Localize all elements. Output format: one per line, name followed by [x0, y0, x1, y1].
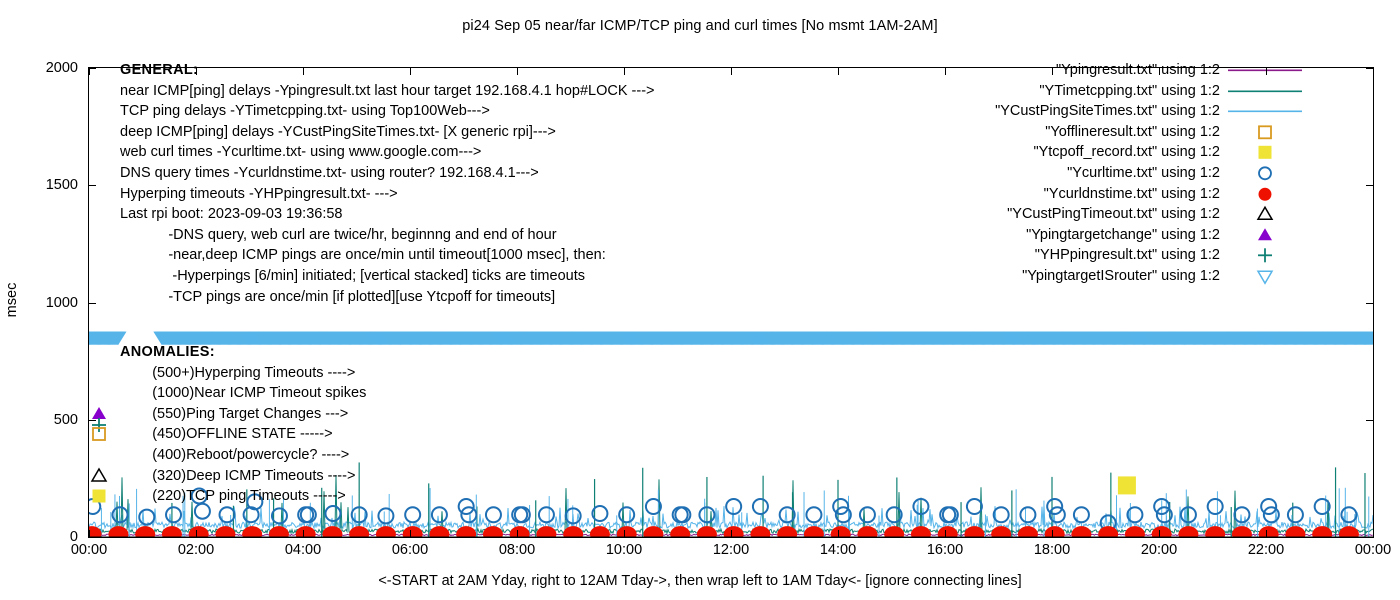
square-open-icon — [84, 424, 114, 444]
x-axis-tick-mark — [1052, 68, 1053, 75]
x-axis-tick-label: 08:00 — [499, 542, 535, 558]
legend-label: "YHPpingresult.txt" using 1:2 — [1035, 247, 1220, 263]
anomaly-row: (220)TCP ping Timeouts -----> — [120, 486, 366, 507]
anomaly-label: (320)Deep ICMP Timeouts ----> — [120, 468, 355, 484]
x-axis-tick-label: 12:00 — [713, 542, 749, 558]
anomaly-row: (320)Deep ICMP Timeouts ----> — [120, 466, 366, 487]
anomaly-label: (220)TCP ping Timeouts -----> — [120, 488, 346, 504]
x-axis-tick-mark — [945, 530, 946, 537]
y-axis-tick-mark — [89, 420, 96, 421]
x-axis-tick-label: 06:00 — [392, 542, 428, 558]
general-line: -Hyperpings [6/min] initiated; [vertical… — [120, 266, 655, 287]
x-axis-tick-mark — [731, 68, 732, 75]
y-axis-tick-mark — [89, 537, 96, 538]
anomaly-label: (400)Reboot/powercycle? ----> — [120, 447, 349, 463]
anomaly-row: (450)OFFLINE STATE -----> — [120, 424, 366, 445]
general-line: DNS query times -Ycurldnstime.txt- using… — [120, 163, 655, 184]
x-axis-tick-mark — [89, 68, 90, 75]
x-axis-tick-mark — [731, 530, 732, 537]
general-line: -TCP pings are once/min [if plotted][use… — [120, 287, 655, 308]
x-axis-tick-mark — [517, 68, 518, 75]
y-axis-tick-label: 500 — [18, 412, 78, 428]
x-axis-tick-mark — [1266, 530, 1267, 537]
y-axis-tick-mark — [89, 303, 96, 304]
x-axis-tick-label: 02:00 — [178, 542, 214, 558]
triangle-up-open-icon — [84, 466, 114, 486]
y-axis-tick-mark — [1366, 537, 1373, 538]
anomaly-label: (550)Ping Target Changes ---> — [120, 406, 348, 422]
anomaly-label: (500+)Hyperping Timeouts ----> — [120, 365, 355, 381]
anomaly-label: (1000)Near ICMP Timeout spikes — [120, 385, 366, 401]
x-axis-tick-mark — [945, 68, 946, 75]
x-axis-tick-label: 14:00 — [820, 542, 856, 558]
circle-open-icon — [1226, 163, 1304, 184]
y-axis-tick-labels: 0500100015002000 — [14, 0, 78, 600]
chart-title: pi24 Sep 05 near/far ICMP/TCP ping and c… — [0, 18, 1400, 34]
x-axis-tick-mark — [1266, 68, 1267, 75]
x-axis-tick-label: 18:00 — [1034, 542, 1070, 558]
line-key-icon — [1226, 101, 1304, 122]
y-axis-tick-label: 1500 — [18, 177, 78, 193]
y-axis-label: msec — [4, 270, 20, 330]
x-axis-tick-mark — [303, 68, 304, 75]
y-axis-tick-label: 2000 — [18, 60, 78, 76]
x-axis-label: <-START at 2AM Yday, right to 12AM Tday-… — [0, 573, 1400, 589]
general-lines: near ICMP[ping] delays -Ypingresult.txt … — [120, 81, 655, 308]
general-line: web curl times -Ycurltime.txt- using www… — [120, 142, 655, 163]
square-filled-icon — [84, 486, 114, 506]
legend-entry: "Yofflineresult.txt" using 1:2 — [995, 122, 1304, 143]
legend-label: "YTimetcpping.txt" using 1:2 — [1039, 83, 1220, 99]
anomaly-label: (450)OFFLINE STATE -----> — [120, 426, 333, 442]
line-key-icon — [1226, 60, 1304, 81]
x-axis-tick-mark — [517, 530, 518, 537]
legend-entry: "Ytcpoff_record.txt" using 1:2 — [995, 142, 1304, 163]
anomalies-header: ANOMALIES: — [120, 342, 366, 363]
y-axis-tick-label: 0 — [18, 529, 78, 545]
legend-label: "YCustPingSiteTimes.txt" using 1:2 — [995, 103, 1220, 119]
y-axis-tick-mark — [1366, 185, 1373, 186]
legend-entry: "Ypingresult.txt" using 1:2 — [995, 60, 1304, 81]
anomalies-annotation-block: ANOMALIES: (500+)Hyperping Timeouts ----… — [120, 342, 366, 507]
general-line: deep ICMP[ping] delays -YCustPingSiteTim… — [120, 122, 655, 143]
x-axis-tick-label: 16:00 — [927, 542, 963, 558]
y-axis-tick-mark — [1366, 420, 1373, 421]
general-line: -DNS query, web curl are twice/hr, begin… — [120, 225, 655, 246]
y-axis-tick-mark — [89, 185, 96, 186]
legend-label: "Ycurltime.txt" using 1:2 — [1067, 165, 1220, 181]
legend-entry: "YCustPingTimeout.txt" using 1:2 — [995, 204, 1304, 225]
x-axis-tick-mark — [196, 530, 197, 537]
anomaly-row: (500+)Hyperping Timeouts ----> — [120, 363, 366, 384]
x-axis-tick-label: 22:00 — [1248, 542, 1284, 558]
x-axis-tick-mark — [624, 530, 625, 537]
general-header: GENERAL: — [120, 60, 655, 81]
anomaly-row: (400)Reboot/powercycle? ----> — [120, 445, 366, 466]
tcpoff-marker — [1118, 476, 1136, 494]
x-axis-tick-mark — [303, 530, 304, 537]
x-axis-tick-label: 00:00 — [1355, 542, 1391, 558]
x-axis-tick-mark — [1373, 530, 1374, 537]
general-line: Last rpi boot: 2023-09-03 19:36:58 — [120, 204, 655, 225]
x-axis-tick-label: 04:00 — [285, 542, 321, 558]
general-line: -near,deep ICMP pings are once/min until… — [120, 245, 655, 266]
legend-label: "Ypingtargetchange" using 1:2 — [1026, 227, 1220, 243]
x-axis-tick-mark — [838, 530, 839, 537]
y-axis-tick-mark — [1366, 303, 1373, 304]
x-axis-tick-label: 20:00 — [1141, 542, 1177, 558]
legend-entry: "Ycurltime.txt" using 1:2 — [995, 163, 1304, 184]
general-line: Hyperping timeouts -YHPpingresult.txt- -… — [120, 184, 655, 205]
x-axis-tick-mark — [1159, 68, 1160, 75]
general-annotation-block: GENERAL: near ICMP[ping] delays -Ypingre… — [120, 60, 655, 307]
legend-entry: "Ypingtargetchange" using 1:2 — [995, 225, 1304, 246]
legend-entry: "Ycurldnstime.txt" using 1:2 — [995, 184, 1304, 205]
x-axis-tick-label: 10:00 — [606, 542, 642, 558]
y-axis-tick-mark — [1366, 68, 1373, 69]
legend-label: "Ycurldnstime.txt" using 1:2 — [1044, 186, 1220, 202]
legend-label: "Ytcpoff_record.txt" using 1:2 — [1033, 144, 1220, 160]
y-axis-tick-label: 1000 — [18, 295, 78, 311]
x-axis-tick-mark — [89, 530, 90, 537]
triangle-up-open-icon — [1226, 204, 1304, 225]
x-axis-tick-mark — [1159, 530, 1160, 537]
x-axis-tick-mark — [624, 68, 625, 75]
square-open-icon — [1226, 122, 1304, 143]
legend-entry: "YHPpingresult.txt" using 1:2 — [995, 245, 1304, 266]
legend-label: "YpingtargetISrouter" using 1:2 — [1022, 268, 1220, 284]
general-line: TCP ping delays -YTimetcpping.txt- using… — [120, 101, 655, 122]
x-axis-tick-mark — [1373, 68, 1374, 75]
legend-entry: "YCustPingSiteTimes.txt" using 1:2 — [995, 101, 1304, 122]
x-axis-tick-mark — [838, 68, 839, 75]
plus-icon — [1226, 245, 1304, 266]
x-axis-tick-mark — [410, 530, 411, 537]
x-axis-tick-mark — [410, 68, 411, 75]
anomaly-row: (550)Ping Target Changes ---> — [120, 404, 366, 425]
y-axis-tick-mark — [89, 68, 96, 69]
x-axis-tick-label: 00:00 — [71, 542, 107, 558]
triangle-up-filled-icon — [1226, 225, 1304, 246]
line-key-icon — [1226, 81, 1304, 102]
anomaly-row: (1000)Near ICMP Timeout spikes — [120, 383, 366, 404]
legend: "Ypingresult.txt" using 1:2"YTimetcpping… — [995, 60, 1304, 287]
legend-label: "Yofflineresult.txt" using 1:2 — [1045, 124, 1220, 140]
square-filled-icon — [1226, 142, 1304, 163]
circle-filled-icon — [1226, 184, 1304, 205]
x-axis-tick-mark — [196, 68, 197, 75]
x-axis-tick-mark — [1052, 530, 1053, 537]
general-line: near ICMP[ping] delays -Ypingresult.txt … — [120, 81, 655, 102]
legend-label: "YCustPingTimeout.txt" using 1:2 — [1007, 206, 1220, 222]
legend-entry: "YpingtargetISrouter" using 1:2 — [995, 266, 1304, 287]
legend-label: "Ypingresult.txt" using 1:2 — [1056, 62, 1220, 78]
triangle-down-open-icon — [1226, 266, 1304, 287]
anomalies-rows: (500+)Hyperping Timeouts ----> (1000)Nea… — [120, 363, 366, 507]
legend-entry: "YTimetcpping.txt" using 1:2 — [995, 81, 1304, 102]
